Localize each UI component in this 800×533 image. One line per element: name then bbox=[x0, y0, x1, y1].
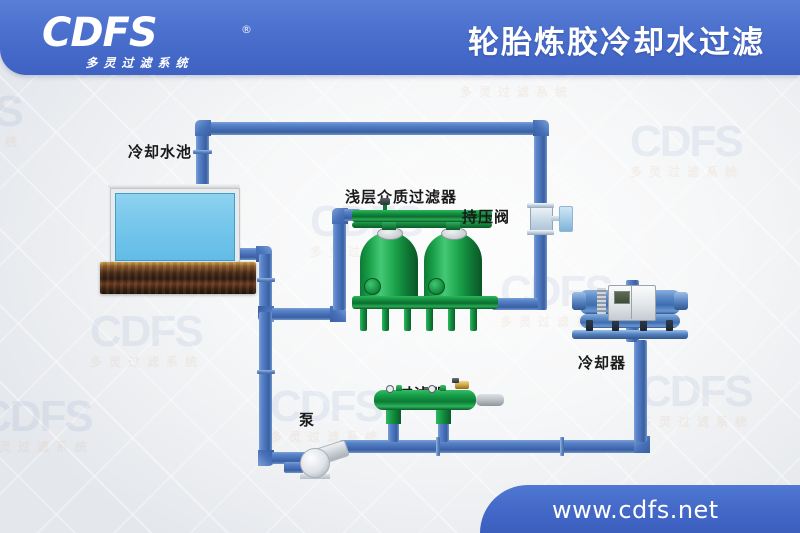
page-header: CDFS ® 多灵过滤系统 轮胎炼胶冷却水过滤 bbox=[0, 0, 800, 75]
watermark: CDFS 多灵过滤系统 bbox=[0, 90, 24, 148]
filter-vent-valve-icon bbox=[380, 198, 390, 205]
watermark: CDFS 多灵过滤系统 bbox=[640, 370, 754, 428]
watermark: CDFS 多灵过滤系统 bbox=[90, 310, 204, 368]
pipe-pool-downcomer bbox=[259, 254, 272, 314]
cooler-foot bbox=[612, 320, 619, 331]
filter-tank-2-neck bbox=[446, 222, 460, 230]
cooling-pool bbox=[110, 188, 240, 266]
label-cooling-pool: 冷却水池 bbox=[128, 141, 192, 162]
pipe-cooler-riser bbox=[634, 340, 647, 442]
ground-earth-band bbox=[100, 262, 256, 294]
horizontal-filter-end-cap bbox=[476, 394, 504, 406]
pipe-left-downcomer bbox=[259, 312, 272, 457]
cooler-end-right bbox=[674, 292, 688, 310]
pipe-filter-downleg-left bbox=[388, 422, 399, 442]
logo-text: CDFS ® bbox=[42, 13, 237, 53]
label-shallow-media-filter: 浅层介质过滤器 bbox=[345, 186, 457, 207]
pump-volute bbox=[300, 448, 330, 478]
page-footer: www.cdfs.net bbox=[480, 485, 800, 533]
diagram-page: CDFS 多灵过滤系统 CDFS 多灵过滤系统 CDFS 多灵过滤系统 CDFS… bbox=[0, 0, 800, 533]
logo-subtitle: 多灵过滤系统 bbox=[42, 54, 237, 71]
filter-valve-handle bbox=[452, 378, 459, 383]
watermark: CDFS 多灵过滤系统 bbox=[0, 395, 94, 453]
pipe-pool-riser bbox=[196, 130, 209, 188]
pipe-flange bbox=[257, 370, 275, 374]
pipe-flange bbox=[193, 150, 212, 154]
label-cooler: 冷却器 bbox=[578, 352, 626, 373]
filter-leg bbox=[404, 309, 411, 331]
horizontal-filter-body bbox=[374, 390, 476, 410]
pool-water bbox=[115, 193, 235, 261]
pipe-filter-outlet bbox=[492, 298, 538, 310]
filter-leg bbox=[382, 309, 389, 331]
pipe-flange bbox=[257, 278, 275, 282]
filter-bottom-manifold bbox=[352, 296, 498, 309]
filter-tank-2-port bbox=[428, 278, 445, 295]
cooler-foot bbox=[666, 320, 673, 331]
pipe-mid-branch bbox=[272, 308, 336, 320]
label-pump: 泵 bbox=[299, 409, 315, 430]
pipe-filter-inlet-riser bbox=[333, 210, 346, 310]
filter-leg-left bbox=[386, 410, 401, 424]
filter-tank-1-neck bbox=[382, 222, 396, 230]
filter-gauge-icon bbox=[428, 385, 436, 393]
filter-leg-right bbox=[436, 410, 451, 424]
pipe-top-main bbox=[200, 122, 546, 135]
label-pressure-sustaining-valve: 持压阀 bbox=[462, 206, 510, 227]
pipe-flange bbox=[560, 437, 564, 456]
filter-tank-1-port bbox=[364, 278, 381, 295]
filter-gauge-icon bbox=[386, 385, 394, 393]
pipe-elbow-top-left bbox=[195, 120, 211, 136]
pipe-bottom-main bbox=[340, 440, 646, 453]
valve-flange-top bbox=[527, 203, 554, 208]
filter-nozzle bbox=[396, 385, 402, 391]
website-url[interactable]: www.cdfs.net bbox=[552, 496, 719, 524]
cooler-fin-pack bbox=[597, 288, 606, 314]
valve-actuator bbox=[559, 206, 573, 232]
cooler-end-left bbox=[572, 292, 586, 310]
registered-trademark-icon: ® bbox=[241, 10, 251, 50]
watermark: CDFS 多灵过滤系统 bbox=[270, 385, 384, 443]
page-title: 轮胎炼胶冷却水过滤 bbox=[468, 17, 765, 62]
valve-flange-bottom bbox=[527, 230, 554, 235]
filter-leg bbox=[448, 309, 455, 331]
cooler-foot bbox=[586, 320, 593, 331]
logo-main-text: CDFS bbox=[42, 10, 157, 56]
cooler-cabinet-divider bbox=[631, 285, 632, 319]
brand-logo[interactable]: CDFS ® 多灵过滤系统 bbox=[42, 13, 237, 65]
pipe-elbow-top-right bbox=[533, 120, 549, 136]
filter-leg bbox=[470, 309, 477, 331]
pipe-flange bbox=[436, 437, 440, 456]
filter-nozzle bbox=[440, 385, 446, 391]
cooler-foot bbox=[640, 320, 647, 331]
filter-leg bbox=[426, 309, 433, 331]
filter-leg bbox=[360, 309, 367, 331]
cooler-display-screen bbox=[614, 291, 630, 304]
cooler-base-rail bbox=[572, 330, 688, 339]
watermark: CDFS 多灵过滤系统 bbox=[630, 120, 744, 178]
